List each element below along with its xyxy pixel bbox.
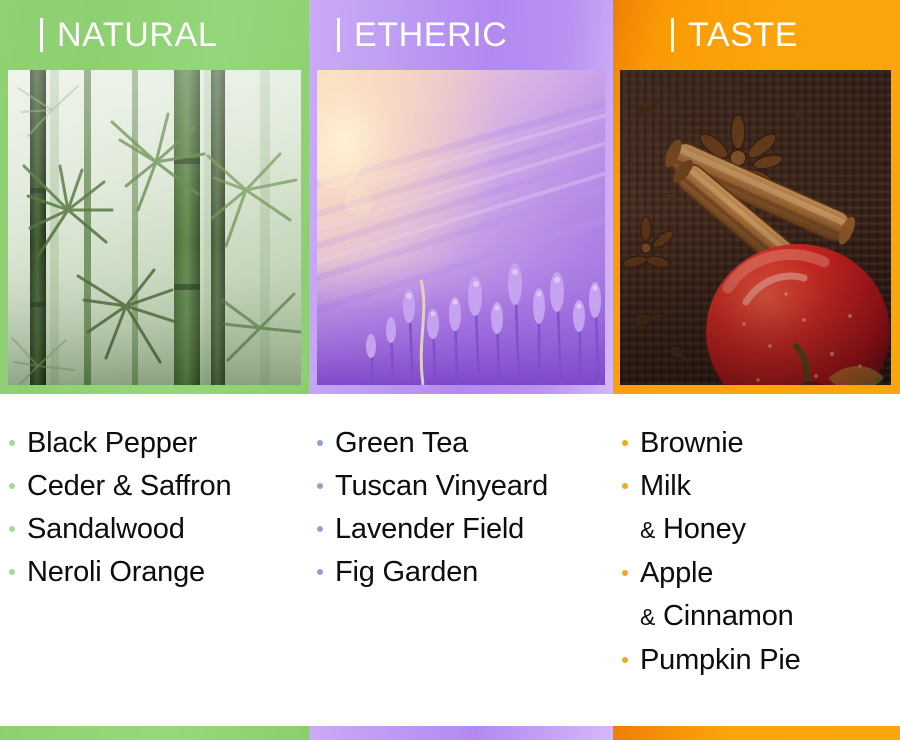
bullet-dot-icon (622, 440, 628, 446)
bamboo-forest-photo (8, 70, 301, 385)
band-title-natural: NATURAL (57, 18, 217, 52)
bullet-dot-icon (317, 483, 323, 489)
bullet-dot-icon (622, 657, 628, 663)
list-item-label: Milk& Honey (640, 465, 746, 552)
bullet-dot-icon (317, 526, 323, 532)
next-section-band-taste (613, 726, 900, 740)
list-item[interactable]: Apple& Cinnamon (622, 552, 900, 639)
lavender-field-photo (317, 70, 605, 385)
list-item-label: Ceder & Saffron (27, 465, 231, 508)
list-item-label: Lavender Field (335, 508, 524, 551)
list-item[interactable]: Milk& Honey (622, 465, 900, 552)
list-item-label: Sandalwood (27, 508, 185, 551)
category-band-taste[interactable]: TASTE (613, 0, 900, 394)
list-item[interactable]: Ceder & Saffron (9, 465, 309, 508)
title-tick-icon (337, 18, 340, 52)
ampersand-glyph: & (640, 604, 655, 630)
ampersand-glyph: & (640, 517, 655, 543)
note-lists: Black Pepper Ceder & Saffron Sandalwood … (0, 394, 900, 726)
list-item-label: Brownie (640, 422, 743, 465)
band-title-taste: TASTE (688, 18, 798, 52)
list-item[interactable]: Brownie (622, 422, 900, 465)
next-section-band-natural (0, 726, 309, 740)
list-item-label: Black Pepper (27, 422, 197, 465)
list-item-label: Neroli Orange (27, 551, 205, 594)
list-item-label: Green Tea (335, 422, 468, 465)
bullet-dot-icon (9, 483, 15, 489)
list-item[interactable]: Black Pepper (9, 422, 309, 465)
bullet-dot-icon (9, 569, 15, 575)
bullet-dot-icon (622, 570, 628, 576)
bullet-dot-icon (9, 440, 15, 446)
list-item[interactable]: Lavender Field (317, 508, 613, 551)
list-item[interactable]: Tuscan Vinyeard (317, 465, 613, 508)
list-item[interactable]: Green Tea (317, 422, 613, 465)
list-item-label: Apple& Cinnamon (640, 552, 794, 639)
list-item-label: Tuscan Vinyeard (335, 465, 548, 508)
note-list-etheric: Green Tea Tuscan Vinyeard Lavender Field… (309, 394, 613, 726)
category-band-natural[interactable]: NATURAL (0, 0, 309, 394)
slide-canvas: NATURAL (0, 0, 900, 740)
list-item[interactable]: Pumpkin Pie (622, 639, 900, 682)
list-item-label: Pumpkin Pie (640, 639, 801, 682)
bullet-dot-icon (9, 526, 15, 532)
bullet-dot-icon (317, 569, 323, 575)
list-item[interactable]: Sandalwood (9, 508, 309, 551)
list-item[interactable]: Fig Garden (317, 551, 613, 594)
apple-cinnamon-spices-photo (620, 70, 891, 385)
note-list-natural: Black Pepper Ceder & Saffron Sandalwood … (0, 394, 309, 726)
band-header-taste: TASTE (613, 0, 798, 70)
title-tick-icon (671, 18, 674, 52)
bullet-dot-icon (317, 440, 323, 446)
band-header-etheric: ETHERIC (309, 0, 507, 70)
band-title-etheric: ETHERIC (354, 18, 507, 52)
category-bands: NATURAL (0, 0, 900, 394)
list-item-label: Fig Garden (335, 551, 478, 594)
next-section-strip (0, 726, 900, 740)
list-item[interactable]: Neroli Orange (9, 551, 309, 594)
note-list-taste: Brownie Milk& Honey Apple& Cinnamon Pump… (613, 394, 900, 726)
category-band-etheric[interactable]: ETHERIC (309, 0, 613, 394)
bullet-dot-icon (622, 483, 628, 489)
next-section-band-etheric (309, 726, 613, 740)
band-header-natural: NATURAL (0, 0, 217, 70)
title-tick-icon (40, 18, 43, 52)
